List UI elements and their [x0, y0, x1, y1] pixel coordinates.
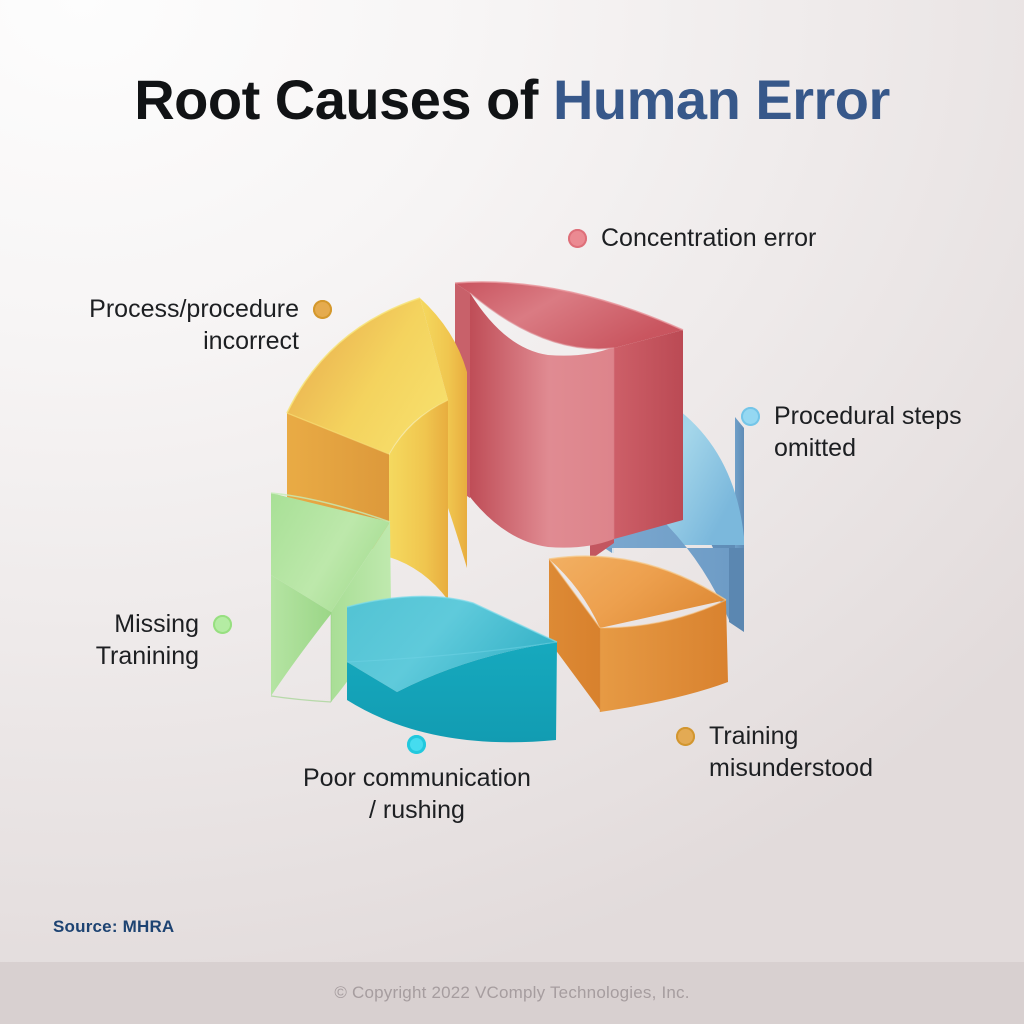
legend-item-training-misunderstood[interactable]: Training misunderstood: [676, 720, 873, 784]
donut-chart: [0, 0, 1024, 1024]
legend-label-procedural-steps-omitted: Procedural steps omitted: [774, 400, 962, 464]
legend-label-missing-training: Missing Tranining: [96, 608, 199, 672]
legend-dot-concentration-error: [568, 229, 587, 248]
legend-dot-process-procedure-incorrect: [313, 300, 332, 319]
segment-training-misunderstood[interactable]: [548, 548, 742, 712]
segment-concentration-error[interactable]: [455, 282, 683, 560]
legend-label-poor-communication-rushing: Poor communication / rushing: [303, 762, 531, 826]
legend-label-concentration-error: Concentration error: [601, 222, 816, 254]
infographic-canvas: Root Causes of Human Error: [0, 0, 1024, 1024]
page-title-accent: Human Error: [553, 68, 890, 131]
source-label: Source: MHRA: [53, 917, 174, 937]
legend-item-concentration-error[interactable]: Concentration error: [568, 222, 816, 254]
footer-bar: © Copyright 2022 VComply Technologies, I…: [0, 962, 1024, 1024]
segment-procedural-steps-omitted[interactable]: [600, 411, 744, 630]
page-title-primary: Root Causes of: [134, 68, 553, 131]
footer-copyright: © Copyright 2022 VComply Technologies, I…: [334, 983, 689, 1003]
segment-poor-communication-rushing[interactable]: [347, 596, 557, 742]
page-title: Root Causes of Human Error: [0, 72, 1024, 128]
legend-item-procedural-steps-omitted[interactable]: Procedural steps omitted: [741, 400, 962, 464]
legend-label-process-procedure-incorrect: Process/procedure incorrect: [89, 293, 299, 357]
legend-dot-training-misunderstood: [676, 727, 695, 746]
legend-item-missing-training[interactable]: Missing Tranining: [96, 608, 232, 672]
legend-dot-missing-training: [213, 615, 232, 634]
segment-procedural-steps-omitted-body[interactable]: [601, 466, 744, 632]
segment-missing-training[interactable]: [271, 493, 391, 702]
legend-item-poor-communication-rushing[interactable]: Poor communication / rushing: [303, 735, 531, 826]
legend-dot-poor-communication-rushing: [407, 735, 426, 754]
legend-label-training-misunderstood: Training misunderstood: [709, 720, 873, 784]
legend-item-process-procedure-incorrect[interactable]: Process/procedure incorrect: [89, 293, 332, 357]
legend-dot-procedural-steps-omitted: [741, 407, 760, 426]
